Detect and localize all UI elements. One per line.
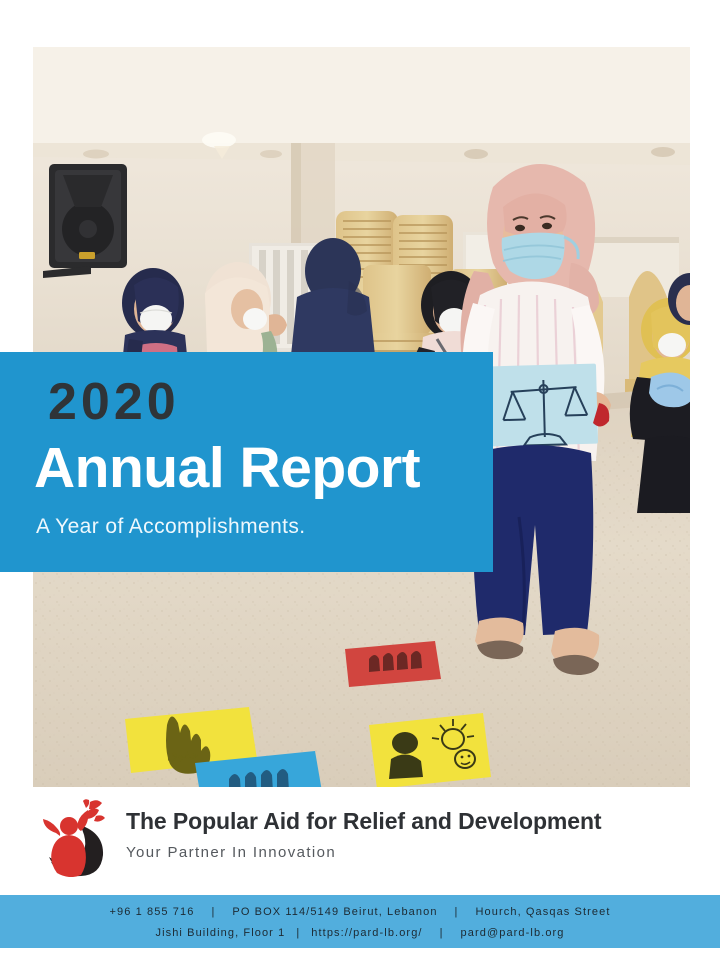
organization-tagline: Your Partner In Innovation bbox=[126, 845, 601, 860]
footer-phone[interactable]: +96 1 855 716 bbox=[109, 902, 194, 923]
organization-block: The Popular Aid for Relief and Developme… bbox=[0, 795, 720, 890]
wall-speaker bbox=[43, 164, 127, 278]
footer-line-1: +96 1 855 716 | PO BOX 114/5149 Beirut, … bbox=[109, 902, 610, 923]
footer-separator: | bbox=[423, 923, 461, 944]
footer-email-link[interactable]: pard@pard-lb.org bbox=[461, 923, 565, 944]
footer-contact-bar: +96 1 855 716 | PO BOX 114/5149 Beirut, … bbox=[0, 895, 720, 948]
svg-text:حقوق: حقوق bbox=[167, 747, 198, 763]
organization-name: The Popular Aid for Relief and Developme… bbox=[126, 809, 601, 834]
footer-line-2: Jishi Building, Floor 1 | https://pard-l… bbox=[155, 923, 564, 944]
logo-artwork bbox=[40, 799, 108, 877]
red-card bbox=[345, 641, 441, 687]
report-year: 2020 bbox=[48, 376, 180, 428]
yellow-figures-card bbox=[369, 713, 491, 787]
footer-website-link[interactable]: https://pard-lb.org/ bbox=[311, 923, 422, 944]
organization-text: The Popular Aid for Relief and Developme… bbox=[126, 809, 601, 860]
footer-po-box: PO BOX 114/5149 Beirut, Lebanon bbox=[232, 902, 437, 923]
footer-separator: | bbox=[194, 902, 232, 923]
pard-figure-logo-icon bbox=[40, 799, 108, 877]
report-subtitle: A Year of Accomplishments. bbox=[36, 516, 306, 537]
footer-separator: | bbox=[438, 902, 476, 923]
footer-separator: | bbox=[285, 923, 311, 944]
footer-street: Hourch, Qasqas Street bbox=[476, 902, 611, 923]
title-banner: 2020 Annual Report A Year of Accomplishm… bbox=[0, 352, 493, 572]
report-cover-page: حقوق bbox=[0, 0, 720, 960]
page-title: Annual Report bbox=[34, 440, 420, 497]
footer-building: Jishi Building, Floor 1 bbox=[155, 923, 285, 944]
